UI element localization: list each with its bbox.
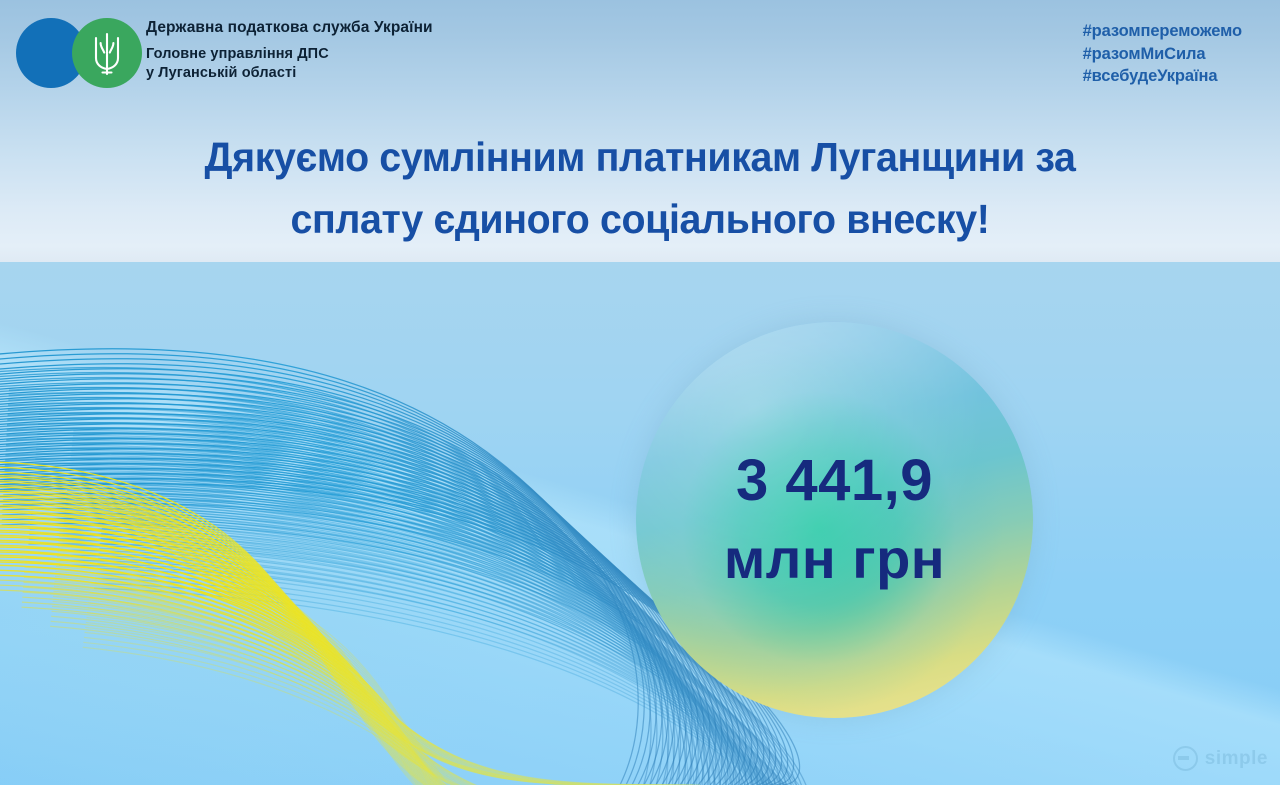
organization-name: Державна податкова служба України Головн… xyxy=(146,18,433,83)
simple-logo-icon xyxy=(1173,746,1198,771)
hashtag-2: #разомМиСила xyxy=(1083,43,1242,66)
hashtag-1: #разомпереможемо xyxy=(1083,20,1242,43)
trident-icon xyxy=(72,18,142,88)
amount-highlight-circle: 3 441,9 млн грн xyxy=(636,322,1033,718)
amount-value: 3 441,9 xyxy=(736,442,933,520)
infographic-poster: Державна податкова служба України Головн… xyxy=(0,0,1280,785)
org-name-line-1: Державна податкова служба України xyxy=(146,18,433,38)
page-title: Дякуємо сумлінним платникам Луганщини за… xyxy=(26,126,1255,250)
hashtag-block: #разомпереможемо #разомМиСила #всебудеУк… xyxy=(1083,20,1242,88)
hashtag-3: #всебудеУкраїна xyxy=(1083,65,1242,88)
page-title-line-1: Дякуємо сумлінним платникам Луганщини за xyxy=(26,126,1255,188)
org-name-line-3: у Луганській області xyxy=(146,64,433,83)
amount-unit: млн грн xyxy=(724,520,945,598)
org-name-line-2: Головне управління ДПС xyxy=(146,45,433,64)
state-tax-service-logo xyxy=(16,18,142,88)
amount-text-group: 3 441,9 млн грн xyxy=(636,322,1033,718)
watermark-label: simple xyxy=(1205,748,1268,770)
watermark: simple xyxy=(1173,746,1268,771)
poster-header: Державна податкова служба України Головн… xyxy=(0,0,1280,104)
page-title-line-2: сплату єдиного соціального внеску! xyxy=(26,188,1255,250)
